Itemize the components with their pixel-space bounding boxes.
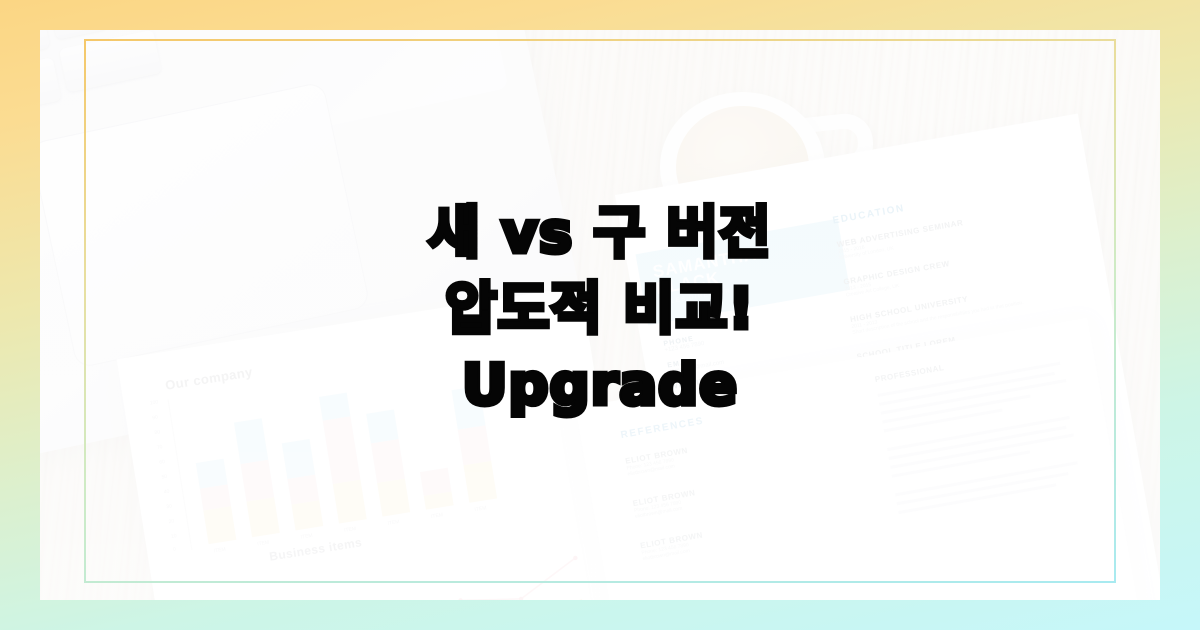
headline-line-1: 새 vs 구 버전: [0, 196, 1200, 272]
headline-line-3: Upgrade: [0, 348, 1200, 424]
y-tick: 50: [161, 474, 167, 481]
y-tick: 40: [164, 489, 170, 496]
line-chart: [207, 532, 632, 600]
x-tick: ITEM: [257, 540, 270, 548]
references-section: REFERENCES ELIOT BROWN Phone: 123 456 78…: [620, 401, 811, 562]
x-tick: ITEM: [213, 547, 226, 555]
x-tick: ITEM: [431, 512, 444, 520]
x-tick: ITEM: [474, 505, 487, 513]
bar: [234, 418, 280, 537]
bar: [282, 439, 323, 530]
y-tick: 80: [154, 429, 160, 436]
chart-x-axis-label: Business items: [268, 535, 363, 563]
x-tick: ITEM: [344, 526, 357, 534]
x-tick: ITEM: [387, 519, 400, 527]
y-tick: 70: [157, 444, 163, 451]
headline-line-2: 압도적 비교!: [0, 272, 1200, 348]
reference-item: ELIOT BROWN Phone: 123 456 7890 eliotbro…: [632, 470, 803, 520]
y-tick: 30: [166, 503, 172, 510]
y-tick: 60: [159, 459, 165, 466]
y-tick: 20: [168, 518, 174, 525]
poster-canvas: Our company 100 90 80 70 60 50 40 30 20 …: [0, 0, 1200, 630]
bar: [366, 409, 410, 516]
bar: [196, 459, 236, 544]
bar: [420, 468, 454, 510]
y-tick: 0: [173, 546, 177, 552]
page-title: 새 vs 구 버전 압도적 비교! Upgrade: [0, 196, 1200, 424]
y-tick: 10: [171, 533, 177, 540]
reference-item: ELIOT BROWN Phone: 123 456 7890 eliotbro…: [640, 512, 811, 562]
x-tick: ITEM: [300, 533, 313, 541]
